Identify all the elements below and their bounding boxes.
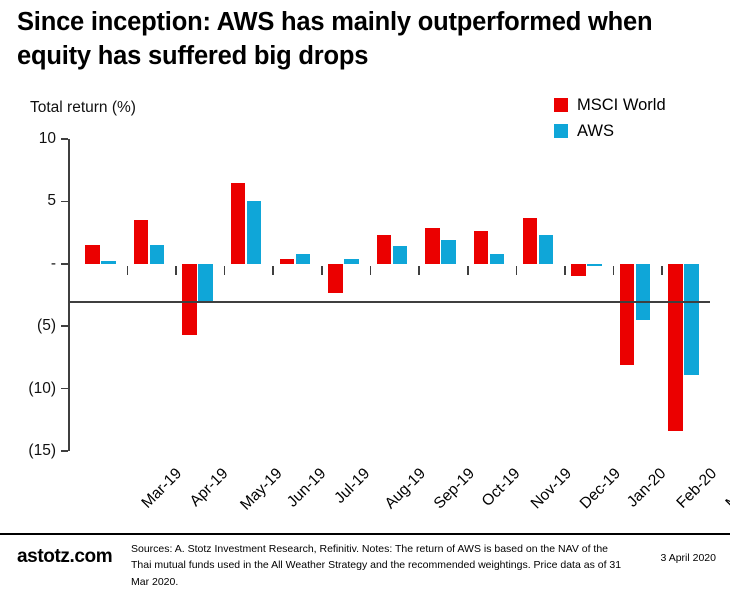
category-tick xyxy=(516,266,518,275)
category-tick xyxy=(467,266,469,275)
category-tick xyxy=(418,266,420,275)
category-tick xyxy=(661,266,663,275)
plot-area xyxy=(68,139,710,451)
x-axis-label-oct-19: Oct-19 xyxy=(478,465,524,511)
y-axis-line xyxy=(68,139,70,451)
bar-msci-world-sep-19 xyxy=(377,235,392,264)
bar-aws-dec-19 xyxy=(539,235,554,264)
bar-msci-world-aug-19 xyxy=(328,264,343,293)
bar-msci-world-nov-19 xyxy=(474,231,489,263)
sources-note: Sources: A. Stotz Investment Research, R… xyxy=(131,541,631,590)
category-tick xyxy=(370,266,372,275)
y-axis-tick-labels: 105-(5)(10)(15) xyxy=(0,139,56,451)
bar-aws-mar-20 xyxy=(684,264,699,375)
brand-logo: astotz.com xyxy=(17,546,112,568)
zero-baseline xyxy=(68,301,710,303)
publication-date: 3 April 2020 xyxy=(661,552,716,564)
bar-aws-sep-19 xyxy=(393,246,408,263)
bar-aws-may-19 xyxy=(198,264,213,301)
bar-aws-aug-19 xyxy=(344,259,359,264)
x-axis-labels: Mar-19Apr-19May-19Jun-19Jul-19Aug-19Sep-… xyxy=(68,451,710,531)
x-axis-label-apr-19: Apr-19 xyxy=(187,465,233,511)
y-axis-tick-label: 5 xyxy=(47,192,56,210)
bar-aws-jul-19 xyxy=(296,254,311,264)
x-axis-label-mar-20: Mar-20 xyxy=(722,465,730,512)
y-axis-tick-label: - xyxy=(51,255,56,273)
x-axis-label-aug-19: Aug-19 xyxy=(382,465,430,513)
x-axis-label-jul-19: Jul-19 xyxy=(331,465,374,508)
y-axis-tick-label: (10) xyxy=(28,380,56,398)
x-axis-label-jun-19: Jun-19 xyxy=(284,465,330,511)
category-tick xyxy=(564,266,566,275)
x-axis-label-jan-20: Jan-20 xyxy=(624,465,670,511)
x-axis-label-feb-20: Feb-20 xyxy=(673,465,720,512)
bar-msci-world-mar-19 xyxy=(85,245,100,264)
bar-msci-world-oct-19 xyxy=(425,228,440,264)
bar-aws-feb-20 xyxy=(636,264,651,320)
y-axis-tick-label: (5) xyxy=(37,317,56,335)
y-axis-tick xyxy=(61,201,68,203)
bar-msci-world-mar-20 xyxy=(668,264,683,431)
bar-msci-world-may-19 xyxy=(182,264,197,335)
bar-aws-nov-19 xyxy=(490,254,505,264)
category-tick xyxy=(272,266,274,275)
category-tick xyxy=(321,266,323,275)
y-axis-tick xyxy=(61,388,68,390)
y-axis-tick xyxy=(61,450,68,452)
y-axis-tick xyxy=(61,263,68,265)
y-axis-tick xyxy=(61,325,68,327)
category-tick xyxy=(175,266,177,275)
y-axis-tick-label: 10 xyxy=(39,130,56,148)
bar-msci-world-feb-20 xyxy=(620,264,635,365)
bar-msci-world-apr-19 xyxy=(134,220,149,264)
x-axis-label-sep-19: Sep-19 xyxy=(431,465,479,513)
bar-chart: 105-(5)(10)(15) Mar-19Apr-19May-19Jun-19… xyxy=(0,0,730,582)
bar-msci-world-dec-19 xyxy=(523,218,538,264)
x-axis-label-mar-19: Mar-19 xyxy=(139,465,186,512)
x-axis-label-nov-19: Nov-19 xyxy=(528,465,576,513)
y-axis-tick-label: (15) xyxy=(28,442,56,460)
bar-msci-world-jan-20 xyxy=(571,264,586,276)
bar-aws-mar-19 xyxy=(101,261,116,263)
bar-msci-world-jun-19 xyxy=(231,183,246,264)
bar-aws-oct-19 xyxy=(441,240,456,264)
category-tick xyxy=(613,266,615,275)
bar-aws-jan-20 xyxy=(587,264,602,266)
category-tick xyxy=(224,266,226,275)
x-axis-label-dec-19: Dec-19 xyxy=(576,465,624,513)
x-axis-label-may-19: May-19 xyxy=(237,465,286,514)
footer-divider xyxy=(0,533,730,535)
y-axis-tick xyxy=(61,138,68,140)
bar-aws-apr-19 xyxy=(150,245,165,264)
bar-aws-jun-19 xyxy=(247,201,262,263)
category-tick xyxy=(127,266,129,275)
bar-msci-world-jul-19 xyxy=(280,259,295,264)
